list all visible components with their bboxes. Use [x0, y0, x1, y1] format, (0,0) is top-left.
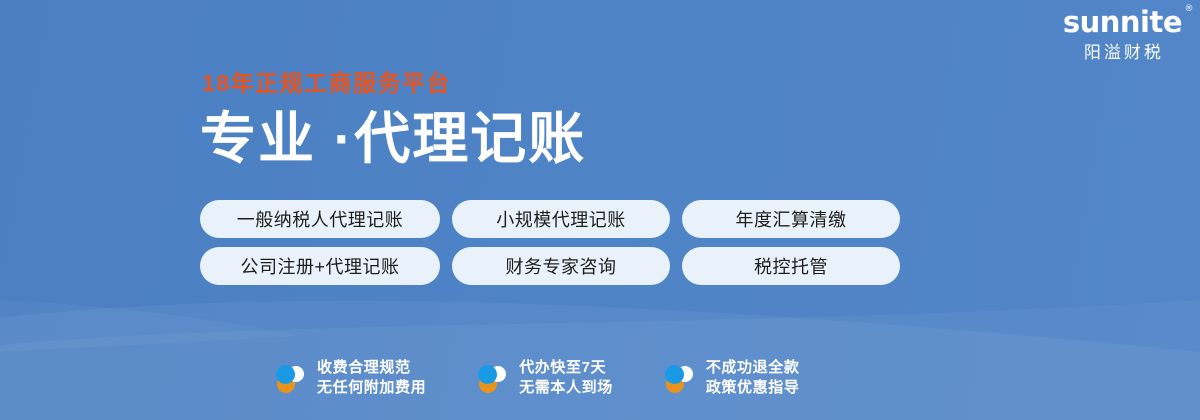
feature-line-1: 不成功退全款	[706, 358, 800, 378]
brand-logo[interactable]: sunnite ® 阳溢财税	[1063, 8, 1182, 61]
dot-blue-icon	[478, 365, 497, 384]
feature-item: 不成功退全款 政策优惠指导	[665, 358, 800, 399]
feature-item: 代办快至7天 无需本人到场	[478, 358, 613, 399]
logo-wordmark: sunnite ®	[1063, 8, 1182, 37]
logo-chinese-name: 阳溢财税	[1063, 44, 1182, 61]
headline-block: 18年正规工商服务平台 专业 ·代理记账	[200, 72, 586, 167]
feature-line-2: 政策优惠指导	[706, 378, 800, 398]
feature-line-1: 代办快至7天	[519, 358, 613, 378]
service-pill[interactable]: 小规模代理记账	[452, 200, 670, 238]
feature-strip: 收费合理规范 无任何附加费用 代办快至7天 无需本人到场 不成功退全款	[276, 358, 799, 399]
feature-item: 收费合理规范 无任何附加费用	[276, 358, 426, 399]
headline-eyebrow: 18年正规工商服务平台	[202, 72, 586, 95]
service-pill[interactable]: 公司注册+代理记账	[200, 247, 440, 285]
dot-blue-icon	[276, 365, 295, 384]
service-pill[interactable]: 税控托管	[682, 247, 900, 285]
dots-icon	[665, 363, 695, 393]
feature-line-1: 收费合理规范	[317, 358, 426, 378]
service-pill[interactable]: 一般纳税人代理记账	[200, 200, 440, 238]
feature-text: 不成功退全款 政策优惠指导	[706, 358, 800, 399]
dots-icon	[276, 363, 306, 393]
feature-line-2: 无需本人到场	[519, 378, 613, 398]
service-pill[interactable]: 年度汇算清缴	[682, 200, 900, 238]
marketing-banner: sunnite ® 阳溢财税 18年正规工商服务平台 专业 ·代理记账 一般纳税…	[0, 0, 1200, 420]
feature-text: 收费合理规范 无任何附加费用	[317, 358, 426, 399]
service-pill[interactable]: 财务专家咨询	[452, 247, 670, 285]
dot-blue-icon	[665, 365, 684, 384]
feature-line-2: 无任何附加费用	[317, 378, 426, 398]
registered-trademark-icon: ®	[1185, 5, 1194, 14]
dots-icon	[478, 363, 508, 393]
service-pill-grid: 一般纳税人代理记账 小规模代理记账 年度汇算清缴 公司注册+代理记账 财务专家咨…	[200, 200, 900, 285]
feature-text: 代办快至7天 无需本人到场	[519, 358, 613, 399]
page-title: 专业 ·代理记账	[200, 111, 586, 167]
wave-left-wedge	[0, 300, 300, 352]
logo-wordmark-text: sunnite	[1063, 5, 1182, 39]
